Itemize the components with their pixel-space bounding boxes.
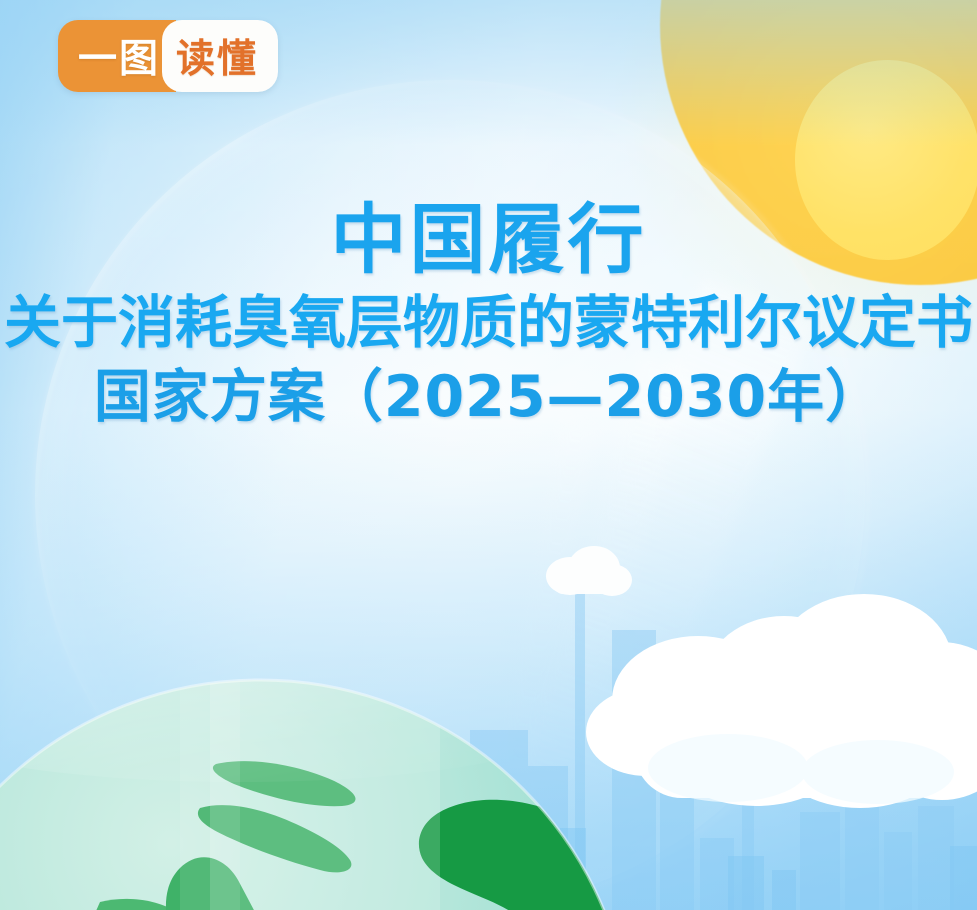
title-line-2: 关于消耗臭氧层物质的蒙特利尔议定书 <box>0 290 977 356</box>
sun-inner-circle-icon <box>795 60 977 260</box>
infographic-poster: 一图 读懂 中国履行 关于消耗臭氧层物质的蒙特利尔议定书 国家方案（2025—2… <box>0 0 977 910</box>
title-line-3: 国家方案（2025—2030年） <box>0 364 977 430</box>
light-beam-icon <box>512 352 694 819</box>
badge-left-label: 一图 <box>58 20 176 92</box>
city-skyline-silhouette <box>0 570 977 910</box>
yitu-dudong-badge[interactable]: 一图 读懂 <box>58 20 278 92</box>
large-cloud-icon <box>578 582 977 822</box>
light-beam-icon <box>486 417 598 847</box>
badge-right-label: 读懂 <box>162 20 278 92</box>
earth-globe-icon <box>0 672 640 910</box>
light-beam-icon <box>510 278 816 805</box>
small-cloud-icon <box>540 536 636 608</box>
